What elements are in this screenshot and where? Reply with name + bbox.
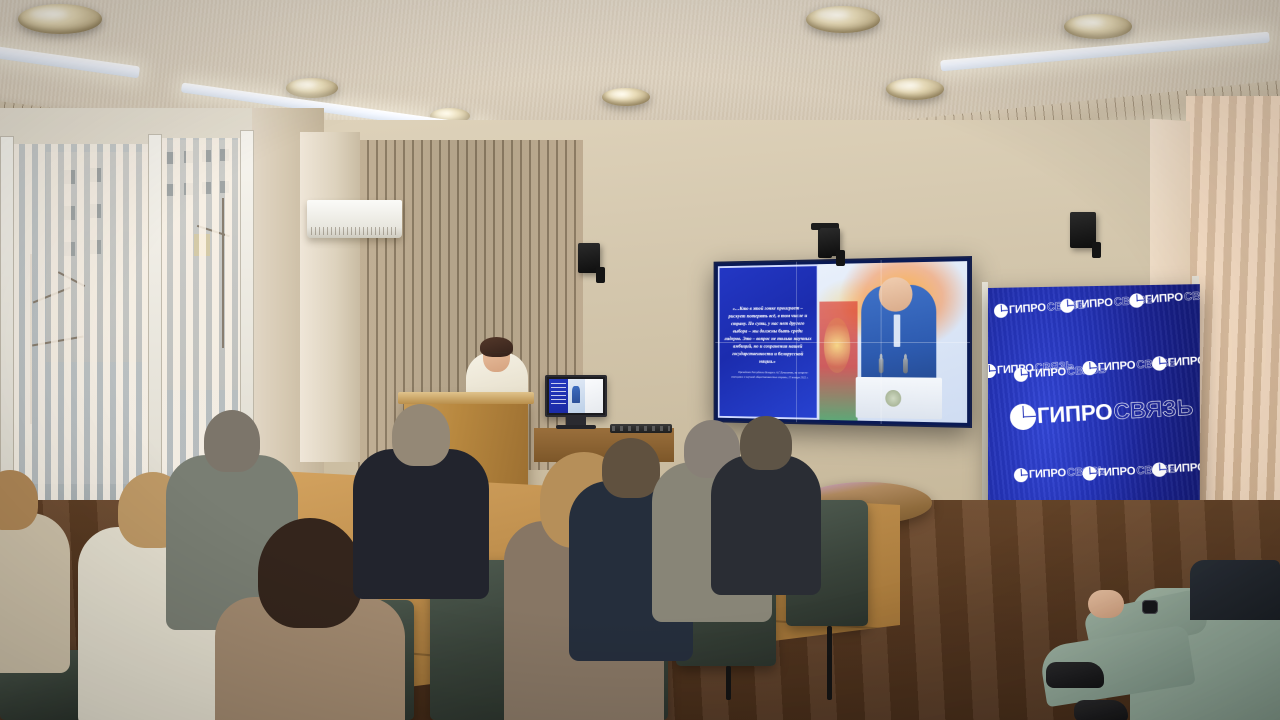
slide-speaker-head — [879, 277, 912, 312]
wristwatch — [1142, 600, 1158, 614]
wall-pillar — [300, 132, 360, 462]
wall-speaker — [578, 243, 600, 273]
slide-quote-text: «…Кто в этой гонке проиграет – рискует п… — [724, 305, 812, 367]
foreground-attendee-dark — [1190, 560, 1280, 620]
banner-logo-tile: ГИПРОСВЯЗЬ — [1152, 458, 1200, 477]
attendee-hair — [602, 438, 660, 498]
satellite-dish-icon — [1014, 367, 1029, 382]
attendee-hair — [740, 416, 792, 470]
monitor-current-slide — [568, 379, 584, 413]
banner-brand-outline: СВЯЗЬ — [1113, 394, 1194, 425]
video-wall[interactable]: «…Кто в этой гонке проиграет – рискует п… — [714, 256, 972, 428]
monitor-base — [556, 425, 596, 429]
ceiling-dome-lamp — [806, 6, 880, 33]
banner-brand-solid: ГИПРО — [1009, 302, 1046, 317]
banner-brand-solid: ГИПРО — [1075, 297, 1113, 312]
national-emblem-flag — [820, 301, 858, 420]
attendee-torso — [353, 449, 489, 599]
foreground-hands — [1088, 590, 1124, 618]
monitor-notes-panel — [585, 379, 603, 413]
banner-logo-tile: ГИПРОСВЯЗЬ — [1152, 351, 1200, 371]
banner-logo-tile: ГИПРОСВЯЗЬ — [1129, 287, 1200, 308]
shoe — [1074, 700, 1128, 720]
blinds-slats-right — [1186, 96, 1280, 566]
banner-brand-solid: ГИПРО — [1097, 359, 1135, 373]
right-wall-blinds — [1186, 96, 1280, 566]
banner-brand-solid: ГИПРО — [1036, 399, 1113, 429]
wall-speaker — [1070, 212, 1096, 248]
wall-speaker — [820, 228, 840, 256]
chair-leg — [827, 626, 832, 700]
ceiling-dome-lamp — [286, 78, 338, 98]
satellite-dish-icon — [1129, 293, 1144, 308]
satellite-dish-icon — [988, 364, 996, 379]
podium-top-surface — [398, 392, 534, 404]
banner-logo-main: ГИПРОСВЯЗЬ — [1009, 394, 1194, 430]
attendee-torso — [0, 513, 70, 673]
satellite-dish-icon — [1060, 298, 1075, 313]
banner-brand-outline: СВЯЗЬ — [1184, 288, 1200, 303]
banner-brand-solid: ГИПРО — [1145, 291, 1184, 306]
satellite-dish-icon — [1009, 403, 1036, 431]
attendee-torso — [711, 455, 821, 595]
banner-brand-solid: ГИПРО — [1097, 465, 1135, 479]
microphone-icon — [903, 358, 908, 374]
confidence-monitor[interactable] — [545, 375, 607, 417]
power-outlet-strip[interactable] — [610, 424, 672, 433]
monitor-slide-thumb — [549, 379, 568, 413]
air-conditioner — [307, 200, 402, 238]
satellite-dish-icon — [1152, 462, 1167, 477]
satellite-dish-icon — [1082, 466, 1097, 481]
attendee-hair — [258, 518, 362, 628]
shoe — [1046, 662, 1104, 688]
ceiling-dome-lamp — [18, 4, 102, 34]
presenter-glasses-icon — [486, 352, 507, 357]
chair-leg — [726, 666, 731, 700]
banner-brand-solid: ГИПРО — [1167, 461, 1200, 475]
ceiling-dome-lamp — [1064, 14, 1132, 39]
satellite-dish-icon — [1152, 356, 1167, 371]
ceiling-dome-lamp — [886, 78, 944, 100]
banner-brand-solid: ГИПРО — [1029, 467, 1067, 481]
ceiling-dome-lamp — [602, 88, 650, 106]
satellite-dish-icon — [994, 303, 1009, 318]
banner-brand-solid: ГИПРО — [1029, 366, 1067, 380]
satellite-dish-icon — [1014, 468, 1029, 483]
monitor-screen — [549, 379, 603, 413]
attendee-hair — [204, 410, 260, 472]
attendee-hair — [392, 404, 450, 466]
conference-room-scene: «…Кто в этой гонке проиграет – рискует п… — [0, 0, 1280, 720]
banner-brand-solid: ГИПРО — [1167, 355, 1200, 370]
panel-seam — [715, 342, 970, 343]
satellite-dish-icon — [1082, 361, 1097, 376]
